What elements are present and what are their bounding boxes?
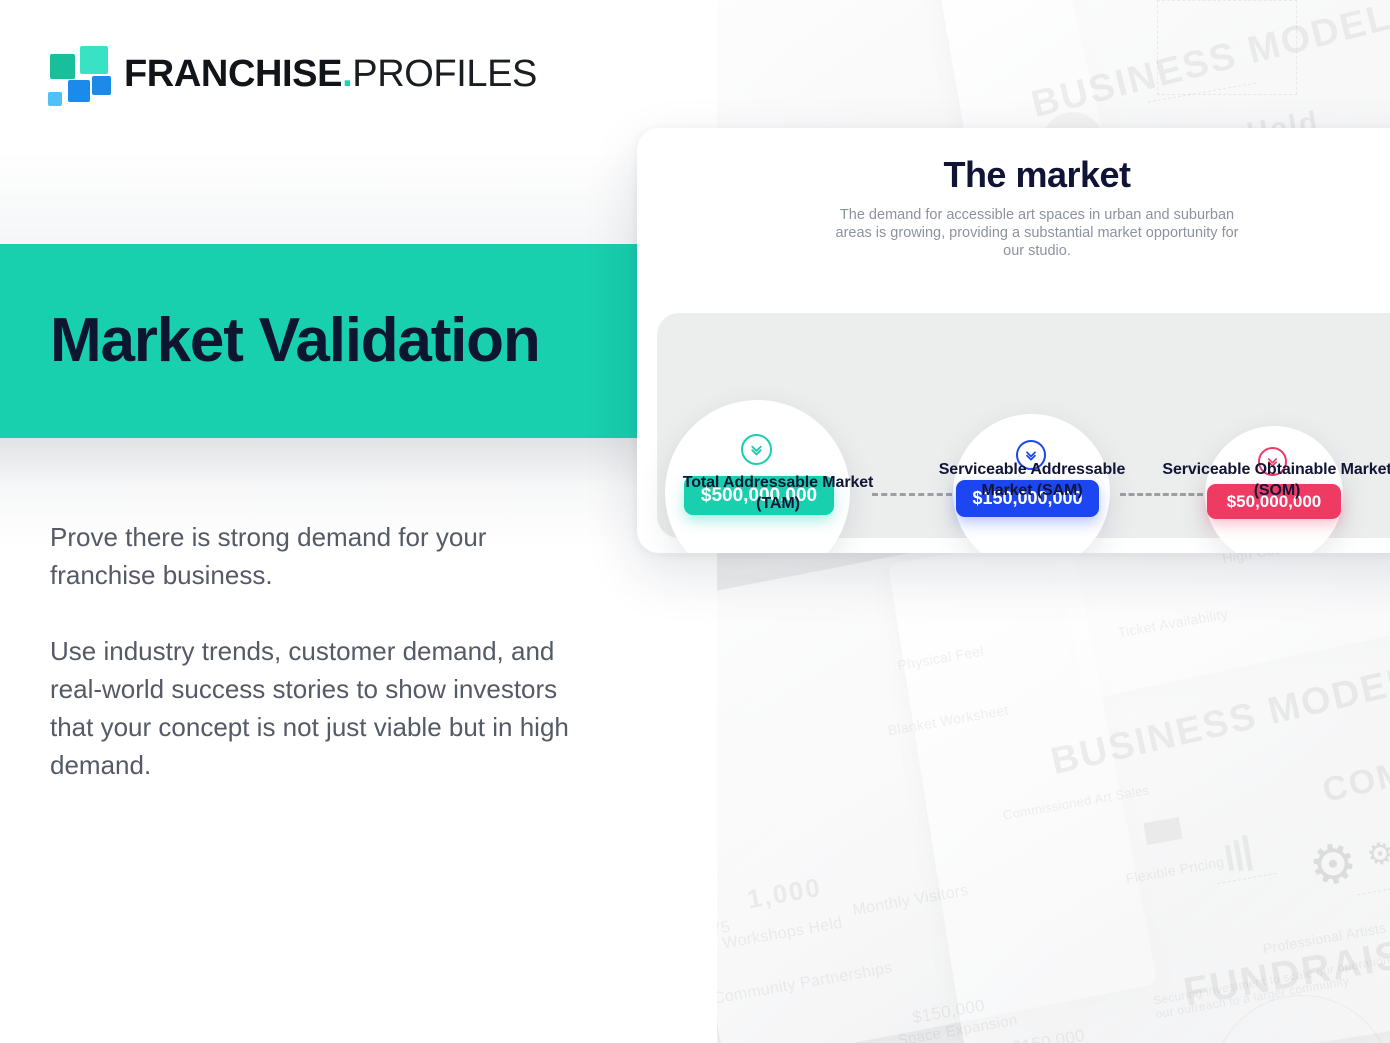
paragraph-1: Prove there is strong demand for your fr…	[50, 518, 590, 594]
page-title: Market Validation	[50, 310, 540, 372]
logo-word-dot: .	[342, 53, 352, 95]
logo-mark-icon	[48, 46, 108, 102]
logo-square-blue-center	[68, 80, 90, 102]
gear-icon: ⚙	[1305, 834, 1362, 896]
label-tam: Total Addressable Market (TAM)	[673, 472, 883, 514]
logo-square-blue-right	[92, 76, 111, 95]
market-card-subtitle: The demand for accessible art spaces in …	[827, 206, 1247, 260]
market-card-title: The market	[637, 154, 1390, 196]
headline-banner: Market Validation	[0, 244, 637, 438]
panel-top-gradient	[0, 0, 637, 244]
label-som: Serviceable Obtainable Market (SOM)	[1162, 459, 1390, 501]
logo-word-bold: FRANCHISE	[124, 53, 342, 95]
left-content-panel: FRANCHISE.PROFILES Market Validation Pro…	[0, 0, 717, 1043]
brand-logo[interactable]: FRANCHISE.PROFILES	[48, 46, 537, 102]
logo-wordmark: FRANCHISE.PROFILES	[124, 55, 537, 93]
funnel-labels: Total Addressable Market (TAM) Serviceab…	[657, 458, 1390, 538]
logo-square-mint	[80, 46, 108, 74]
label-sam: Serviceable Addressable Market (SAM)	[912, 459, 1152, 501]
logo-square-lightblue	[48, 92, 62, 106]
body-copy: Prove there is strong demand for your fr…	[50, 518, 590, 784]
market-card: The market The demand for accessible art…	[637, 128, 1390, 553]
logo-square-teal	[50, 54, 75, 79]
paragraph-2: Use industry trends, customer demand, an…	[50, 632, 590, 784]
gear-icon: ⚙	[1365, 838, 1390, 872]
logo-word-light: PROFILES	[352, 53, 537, 95]
